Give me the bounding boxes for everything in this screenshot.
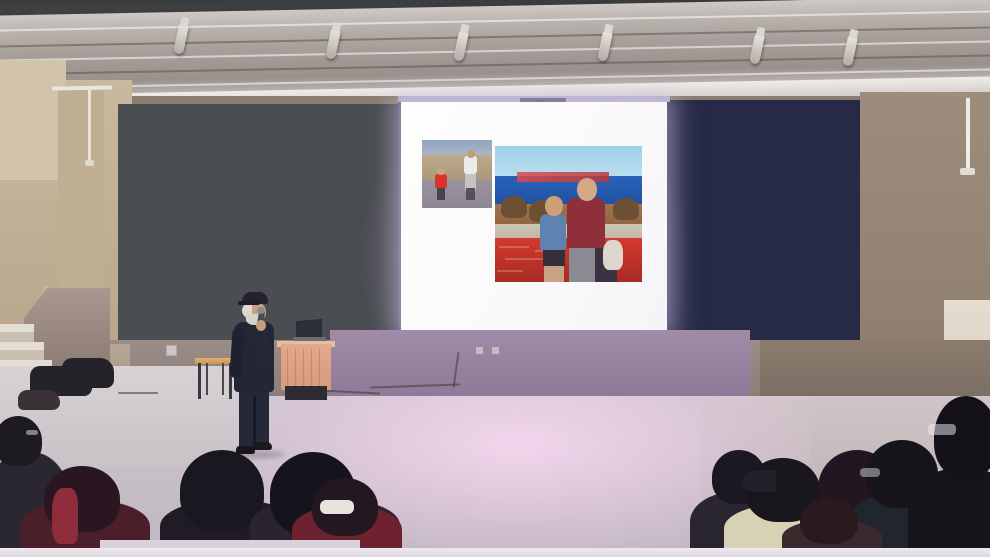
- lower-wall-lit-section: [330, 330, 750, 398]
- wall-outlet-center-2[interactable]: [492, 347, 499, 354]
- presenter[interactable]: [230, 292, 278, 464]
- left-hanging-pipe: [88, 88, 91, 164]
- wall-outlet-left[interactable]: [166, 345, 177, 356]
- audience-glasses-right-4: [860, 468, 880, 477]
- microphone-head: [257, 307, 265, 314]
- lecture-hall-photo: [0, 0, 990, 557]
- right-hanging-pipe-cap: [960, 168, 975, 175]
- podium-base: [285, 386, 327, 400]
- bench-leg-3: [206, 363, 208, 395]
- audience-body-right-5: [908, 468, 990, 557]
- audience-hair-highlight-left-2: [52, 488, 78, 544]
- slide-photo-beach-walk: [422, 140, 492, 208]
- floor-bag-2: [62, 358, 114, 388]
- left-hanging-pipe-cap: [85, 160, 94, 166]
- bench-leg-4: [222, 363, 224, 395]
- presenter-hand: [256, 320, 266, 331]
- lower-wall-right-section: [760, 340, 990, 402]
- presenter-leg-gap: [253, 396, 256, 448]
- audience-cap-right-2: [742, 470, 776, 492]
- bottom-edge-strip: [0, 548, 990, 557]
- audience-head-right-5: [934, 396, 990, 478]
- stair-step-1: [0, 324, 34, 332]
- audience-glasses-right-5: [928, 424, 956, 435]
- audience-head-right-6: [800, 498, 858, 544]
- wall-outlet-center-1[interactable]: [476, 347, 483, 354]
- stair-step-2: [0, 342, 44, 350]
- floor-cable-3: [118, 392, 158, 394]
- left-wall-upper-panel: [0, 60, 66, 180]
- stair-riser-2: [0, 350, 44, 360]
- audience-glasses-left-1: [26, 430, 38, 435]
- stair-riser-1: [0, 332, 34, 342]
- bench-leg-1: [198, 363, 201, 399]
- audience-head-left-1: [0, 416, 42, 466]
- slide-photo-seaside-portrait: [495, 146, 642, 282]
- audience-scarf-left-5: [320, 500, 354, 514]
- right-hanging-pipe: [966, 98, 970, 172]
- wooden-podium[interactable]: [281, 344, 331, 390]
- presenter-cap-brim: [238, 301, 260, 305]
- floor-bag-3: [18, 390, 60, 410]
- presenter-shoe-right: [254, 442, 272, 450]
